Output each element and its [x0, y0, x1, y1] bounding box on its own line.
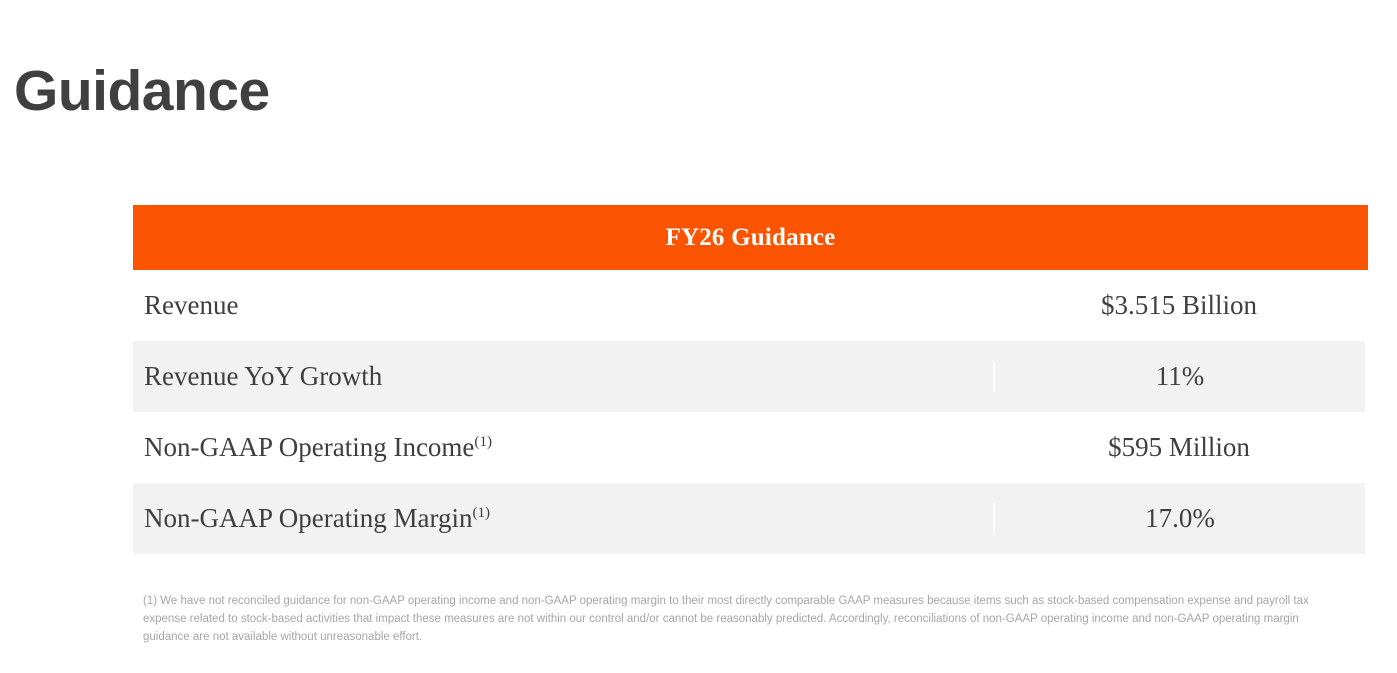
row-value-cell: $3.515 Billion — [993, 290, 1365, 321]
guidance-table: FY26 Guidance Revenue $3.515 Billion Rev… — [133, 205, 1368, 554]
footnote-marker: (1) — [474, 434, 492, 450]
row-label-cell: Non-GAAP Operating Margin(1) — [133, 503, 993, 534]
table-header-title: FY26 Guidance — [666, 224, 836, 252]
row-label-cell: Revenue YoY Growth — [133, 361, 993, 392]
page-title: Guidance — [14, 60, 270, 123]
footnote-text: (1) We have not reconciled guidance for … — [143, 593, 1343, 646]
footnote-marker: (1) — [472, 505, 490, 521]
row-label-cell: Non-GAAP Operating Income(1) — [133, 432, 993, 463]
row-label-text: Non-GAAP Operating Income — [144, 432, 474, 462]
table-row: Revenue $3.515 Billion — [133, 270, 1365, 341]
row-label-text: Non-GAAP Operating Margin — [144, 503, 472, 533]
table-header-row: FY26 Guidance — [133, 205, 1368, 270]
row-label-text: Revenue — [144, 290, 238, 320]
row-value-cell: 11% — [993, 361, 1365, 392]
row-value-cell: 17.0% — [993, 503, 1365, 534]
row-label-text: Revenue YoY Growth — [144, 361, 382, 391]
row-label-cell: Revenue — [133, 290, 993, 321]
table-row: Non-GAAP Operating Margin(1) 17.0% — [133, 483, 1365, 554]
table-row: Non-GAAP Operating Income(1) $595 Millio… — [133, 412, 1365, 483]
row-value-cell: $595 Million — [993, 432, 1365, 463]
table-row: Revenue YoY Growth 11% — [133, 341, 1365, 412]
